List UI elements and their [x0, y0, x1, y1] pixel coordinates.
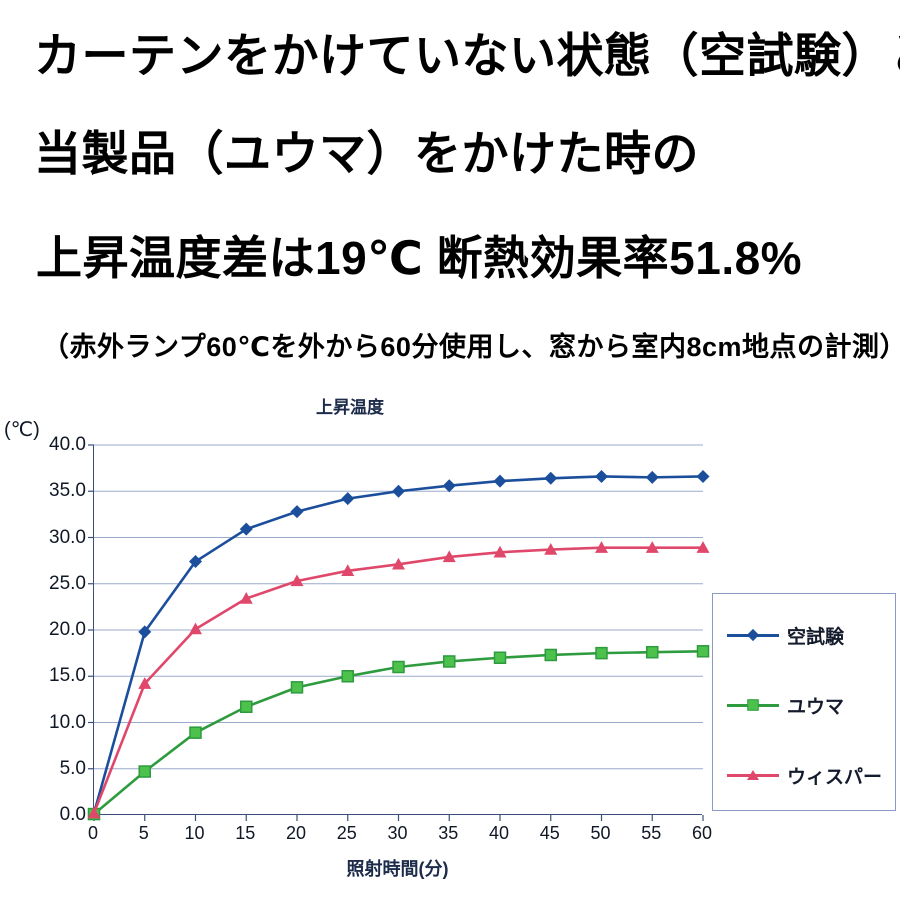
legend-marker: [747, 699, 758, 710]
chart-title: 上昇温度: [0, 393, 700, 418]
data-point-marker: [292, 682, 303, 693]
legend-marker: [747, 629, 759, 641]
data-point-marker: [444, 656, 455, 667]
x-tick-label: 55: [631, 823, 671, 844]
x-tick-label: 40: [479, 823, 519, 844]
legend-swatch-square-icon: [727, 695, 779, 715]
data-point-marker: [698, 646, 709, 657]
x-tick-label: 60: [682, 823, 722, 844]
series-line: [94, 651, 703, 814]
data-point-marker: [545, 649, 556, 660]
data-point-marker: [647, 647, 658, 658]
data-point-marker: [494, 475, 507, 488]
data-point-marker: [241, 701, 252, 712]
data-point-marker: [697, 470, 710, 483]
x-tick-label: 20: [276, 823, 316, 844]
plot-svg: [94, 445, 703, 815]
legend-item-1[interactable]: ユウマ: [727, 692, 887, 718]
series-line: [94, 476, 703, 813]
legend-item-2[interactable]: ウィスパー: [727, 762, 887, 788]
data-point-marker: [291, 505, 304, 518]
headline-line-3: 上昇温度差は19℃ 断熱効果率51.8%: [36, 230, 802, 286]
legend-label-0: 空試験: [787, 622, 844, 649]
headline-note: （赤外ランプ60℃を外から60分使用し、窓から室内8cm地点の計測）: [42, 330, 900, 364]
y-tick-label: 10.0: [6, 712, 86, 734]
x-tick-label: 25: [327, 823, 367, 844]
y-tick-label: 35.0: [6, 480, 86, 502]
x-tick-label: 5: [124, 823, 164, 844]
legend-label-2: ウィスパー: [787, 762, 882, 789]
legend-swatch-triangle-icon: [727, 765, 779, 785]
data-point-marker: [595, 470, 608, 483]
x-tick-label: 45: [530, 823, 570, 844]
line-chart: 上昇温度 (℃) 0.05.010.015.020.025.030.035.04…: [0, 385, 900, 900]
chart-legend: 空試験 ユウマ ウィスパー: [712, 593, 896, 811]
y-tick-label: 25.0: [6, 573, 86, 595]
y-tick-label: 5.0: [6, 758, 86, 780]
data-point-marker: [646, 471, 659, 484]
x-tick-label: 30: [378, 823, 418, 844]
data-point-marker: [190, 727, 201, 738]
legend-label-1: ユウマ: [787, 692, 844, 719]
data-point-marker: [443, 479, 456, 492]
x-axis-tick-labels: 051015202530354045505560: [93, 823, 702, 849]
x-tick-label: 50: [581, 823, 621, 844]
plot-area: [93, 445, 702, 815]
series-1: [89, 646, 709, 820]
legend-swatch-diamond-icon: [727, 625, 779, 645]
headline-line-1: カーテンをかけていない状態（空試験）と: [34, 28, 900, 84]
data-point-marker: [596, 648, 607, 659]
legend-item-0[interactable]: 空試験: [727, 622, 887, 648]
legend-marker: [747, 770, 759, 780]
data-point-marker: [240, 523, 253, 536]
headline-line-2: 当製品（ユウマ）をかけた時の: [34, 126, 699, 182]
data-point-marker: [139, 766, 150, 777]
data-point-marker: [544, 472, 557, 485]
x-tick-label: 0: [73, 823, 113, 844]
x-axis-title: 照射時間(分): [93, 855, 702, 881]
data-point-marker: [342, 671, 353, 682]
y-axis-tick-labels: 0.05.010.015.020.025.030.035.040.0: [0, 445, 86, 815]
data-point-marker: [392, 485, 405, 498]
x-tick-label: 10: [175, 823, 215, 844]
x-tick-label: 35: [428, 823, 468, 844]
data-point-marker: [495, 652, 506, 663]
data-point-marker: [341, 492, 354, 505]
y-tick-label: 15.0: [6, 665, 86, 687]
y-tick-label: 30.0: [6, 527, 86, 549]
y-tick-label: 20.0: [6, 619, 86, 641]
series-line: [94, 548, 703, 813]
data-point-marker: [189, 623, 202, 635]
x-tick-label: 15: [225, 823, 265, 844]
data-point-marker: [393, 662, 404, 673]
y-tick-label: 40.0: [6, 434, 86, 456]
